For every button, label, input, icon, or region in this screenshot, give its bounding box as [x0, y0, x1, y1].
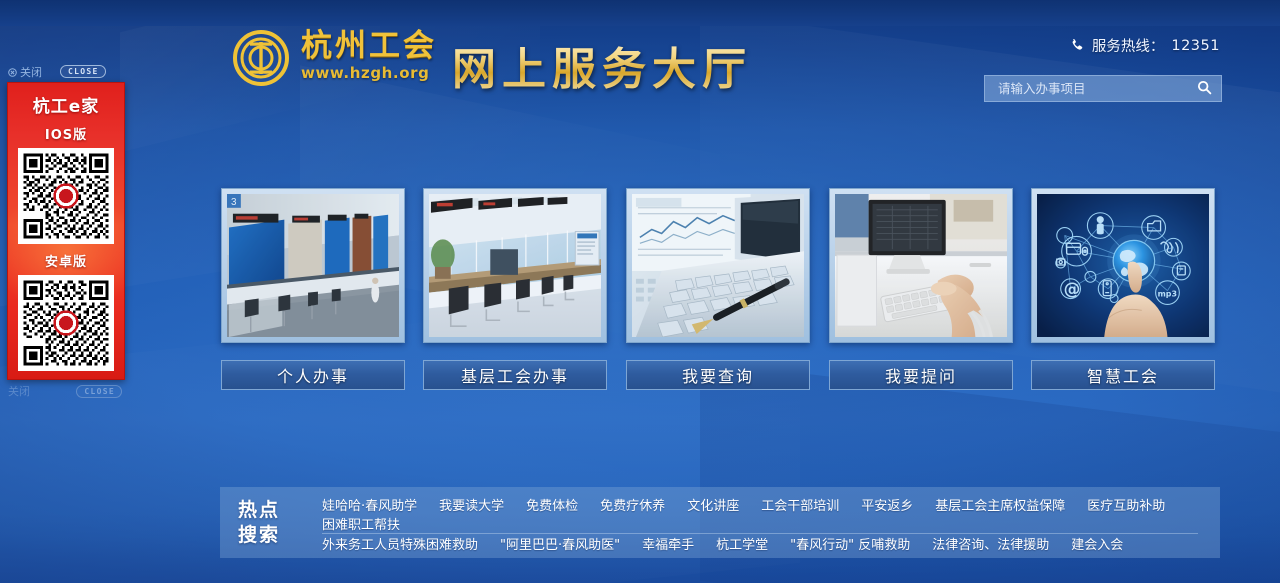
card-frame: [829, 188, 1013, 343]
hot-search-tag[interactable]: 文化讲座: [687, 495, 739, 514]
service-card-smart-union[interactable]: mp3 @: [1031, 188, 1215, 390]
card-label[interactable]: 个人办事: [221, 360, 405, 390]
qr-close-top-pill[interactable]: CLOSE: [60, 65, 106, 78]
card-image-service-hall-counters: 3: [227, 194, 399, 337]
hot-search-panel: 热点 搜索 娃哈哈·春风助学我要读大学免费体检免费疗休养文化讲座工会干部培训平安…: [220, 487, 1220, 558]
service-card-grassroots-union[interactable]: 基层工会办事: [423, 188, 607, 390]
service-card-query[interactable]: 我要查询: [626, 188, 810, 390]
qr-close-top-button[interactable]: 关闭: [8, 64, 42, 80]
hot-search-label-line1: 热点: [238, 498, 308, 522]
hot-search-tag[interactable]: 法律咨询、法律援助: [932, 534, 1049, 553]
hot-search-tag[interactable]: 平安返乡: [861, 495, 913, 514]
search-icon: [1197, 80, 1212, 98]
android-version-label: 安卓版: [8, 251, 124, 270]
card-image-smart-network-hand: mp3 @: [1037, 194, 1209, 337]
hot-search-tag[interactable]: 免费体检: [526, 495, 578, 514]
hotline-label: 服务热线：: [1092, 35, 1165, 56]
card-image-laptop-pen-charts: [632, 194, 804, 337]
service-entry-cards: 3 个人办事: [0, 188, 1280, 394]
hotline-number: 12351: [1171, 38, 1220, 54]
search-input[interactable]: [998, 81, 1191, 96]
hot-search-tag[interactable]: 困难职工帮扶: [322, 514, 400, 533]
hot-search-tag[interactable]: 娃哈哈·春风助学: [322, 495, 417, 514]
hot-search-tag[interactable]: "春风行动" 反哺救助: [790, 534, 910, 553]
card-image-service-desk-chairs: [429, 194, 601, 337]
hot-search-tag[interactable]: 杭工学堂: [716, 534, 768, 553]
ios-version-label: IOS版: [8, 124, 124, 143]
qr-close-bottom-label: 关闭: [8, 383, 30, 399]
card-frame: [626, 188, 810, 343]
hot-search-tag[interactable]: "阿里巴巴·春风助医": [500, 534, 620, 553]
hot-search-row-1: 娃哈哈·春风助学我要读大学免费体检免费疗休养文化讲座工会干部培训平安返乡基层工会…: [322, 495, 1198, 534]
close-x-icon: [8, 67, 17, 76]
android-qr-code[interactable]: [18, 275, 114, 371]
card-frame: [423, 188, 607, 343]
hot-search-tag[interactable]: 外来务工人员特殊困难救助: [322, 534, 478, 553]
ios-qr-code[interactable]: [18, 148, 114, 244]
service-card-ask[interactable]: 我要提问: [829, 188, 1013, 390]
search-button[interactable]: [1191, 76, 1217, 101]
hot-search-tag[interactable]: 免费疗休养: [600, 495, 665, 514]
qr-close-bottom-pill[interactable]: CLOSE: [76, 385, 122, 398]
hot-search-tag[interactable]: 医疗互助补助: [1087, 495, 1165, 514]
qr-close-top-label: 关闭: [20, 64, 42, 80]
card-frame: 3: [221, 188, 405, 343]
brand-logo[interactable]: 杭州工会 www.hzgh.org: [233, 30, 437, 86]
qr-card: 杭工e家 IOS版: [7, 82, 125, 380]
union-emblem-icon: [233, 30, 289, 86]
page-title: 网上服务大厅: [452, 33, 752, 97]
hot-search-tag[interactable]: 我要读大学: [439, 495, 504, 514]
hot-search-tag[interactable]: 建会入会: [1071, 534, 1123, 553]
hot-search-label: 热点 搜索: [238, 495, 308, 550]
phone-icon: [1070, 38, 1085, 53]
brand-text: 杭州工会 www.hzgh.org: [301, 30, 437, 83]
service-hotline: 服务热线： 12351: [1070, 35, 1220, 56]
hot-search-tag[interactable]: 基层工会主席权益保障: [935, 495, 1065, 514]
qr-panel-bottom-bar: 关闭 CLOSE: [0, 380, 132, 399]
hot-search-label-line2: 搜索: [238, 523, 308, 547]
brand-url: www.hzgh.org: [301, 64, 437, 82]
qr-spacer: [8, 244, 124, 251]
card-image-person-at-computer: [835, 194, 1007, 337]
qr-panel-top-bar: 关闭 CLOSE: [0, 63, 132, 80]
card-label[interactable]: 智慧工会: [1031, 360, 1215, 390]
search-bar[interactable]: [984, 75, 1222, 102]
service-card-personal[interactable]: 3 个人办事: [221, 188, 405, 390]
hot-search-tag[interactable]: 幸福牵手: [642, 534, 694, 553]
card-frame: mp3 @: [1031, 188, 1215, 343]
app-name: 杭工e家: [8, 92, 124, 117]
page-header: 杭州工会 www.hzgh.org 网上服务大厅 服务热线： 12351: [0, 0, 1280, 120]
mobile-app-qr-panel: 关闭 CLOSE 杭工e家 IOS版: [0, 63, 132, 399]
card-label[interactable]: 我要提问: [829, 360, 1013, 390]
card-label[interactable]: 基层工会办事: [423, 360, 607, 390]
qr-close-bottom-button[interactable]: 关闭: [8, 383, 30, 399]
hot-search-row-2: 外来务工人员特殊困难救助"阿里巴巴·春风助医"幸福牵手杭工学堂"春风行动" 反哺…: [322, 534, 1198, 553]
brand-name: 杭州工会: [301, 30, 437, 63]
hot-search-rows: 娃哈哈·春风助学我要读大学免费体检免费疗休养文化讲座工会干部培训平安返乡基层工会…: [322, 495, 1220, 550]
card-label[interactable]: 我要查询: [626, 360, 810, 390]
hot-search-tag[interactable]: 工会干部培训: [761, 495, 839, 514]
